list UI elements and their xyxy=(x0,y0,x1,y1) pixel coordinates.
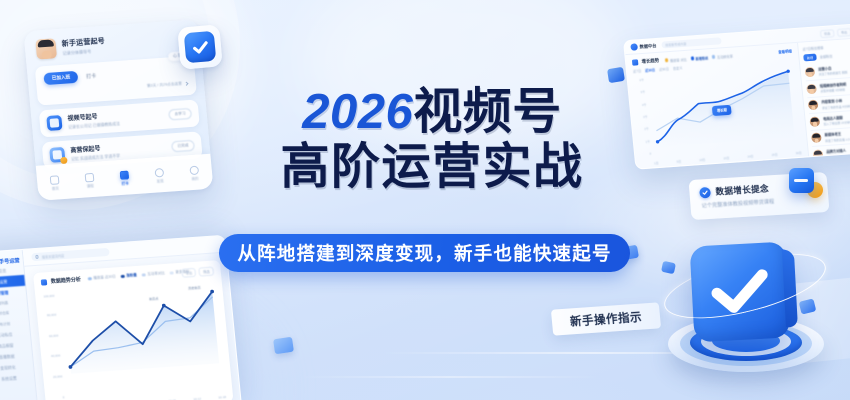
chart-panel: 增长趋势 播放量 对比 新增粉丝 互动转化率 查看明细 近7日 近30日 近90… xyxy=(625,43,808,169)
hero-title-line2: 高阶运营实战 xyxy=(232,143,632,193)
store-account-icon xyxy=(49,147,65,163)
tab-custom[interactable]: 自定义 xyxy=(673,65,683,71)
sidebar-item-label: 素材仓库 xyxy=(0,311,10,317)
chart-annotation: 历史新高 xyxy=(188,285,201,291)
logo-mark-icon xyxy=(630,44,637,51)
y-tick: 0 xyxy=(62,395,64,399)
tab-7d[interactable]: 近7日 xyxy=(633,68,642,74)
logo-text: 数据中台 xyxy=(639,42,656,49)
x-tick: 25日 xyxy=(771,153,777,157)
hero-year: 2026 xyxy=(302,85,413,139)
chart-svg xyxy=(56,283,223,375)
search-icon xyxy=(35,255,39,259)
y-tick: 6千 xyxy=(639,78,644,82)
sidebar-item-label: 数据总览 xyxy=(0,268,7,275)
3d-check-badge xyxy=(650,238,840,390)
hint-label-text: 新手操作指示 xyxy=(569,309,642,330)
y-tick: 1千 xyxy=(645,140,650,144)
x-axis: 09-12 09-18 09-24 09-30 10-06 10-12 10-1… xyxy=(68,395,226,400)
sidebar-item-label: 账号运营 xyxy=(0,279,8,286)
legend-label: 涨粉量 xyxy=(126,273,137,279)
discover-icon xyxy=(154,168,164,178)
list-item[interactable]: 视频号起号 记录长公司记 已做操教练成法 去学习 xyxy=(39,99,200,137)
avatar xyxy=(808,100,819,111)
topbar-actions: 筛选 导出 更多 xyxy=(820,26,850,37)
app-icon-tile xyxy=(184,31,217,64)
x-axis: 1日 5日 10日 15日 20日 25日 30日 xyxy=(654,151,802,166)
x-tick: 15日 xyxy=(723,156,729,160)
sidebar-item-label: 变现转化 xyxy=(0,365,16,372)
follower-list-header: 近7日粉丝榜单 xyxy=(802,42,850,52)
check-badge-icon xyxy=(120,170,130,180)
tab-90d[interactable]: 近90日 xyxy=(659,66,669,72)
y-tick: 0 xyxy=(649,152,651,156)
hint-label-card: 新手操作指示 xyxy=(551,302,661,335)
video-account-icon xyxy=(46,115,62,131)
nav-label: 首页 xyxy=(52,187,59,192)
avatar xyxy=(813,149,824,160)
filter-button[interactable]: 筛选 xyxy=(199,267,214,277)
chart-title: 增长趋势 xyxy=(641,58,659,65)
follower-list-title: 近7日粉丝榜单 xyxy=(802,45,823,51)
chart-title: 数据趋势分析 xyxy=(51,276,82,285)
hero-subtitle-pill: 从阵地搭建到深度变现，新手也能快速起号 xyxy=(219,234,630,272)
legend-item[interactable]: 播放量 对比 xyxy=(665,56,687,63)
checkin-progress-text: 第3天 / 共29点击这里 xyxy=(147,82,182,89)
sidebar-item-label: 系统设置 xyxy=(1,376,17,383)
nav-item-discover[interactable]: 发现 xyxy=(154,168,164,185)
follower-list-tabs: 新增 全部粉丝 xyxy=(803,50,850,62)
chart-marker-tag: 增长期 xyxy=(712,105,732,116)
list-item-action[interactable]: 去学习 xyxy=(168,108,192,121)
new-badge[interactable]: 新增 xyxy=(803,54,817,62)
tab-all-followers[interactable]: 全部粉丝 xyxy=(819,54,832,60)
sidebar-item-label: 商品橱窗 xyxy=(0,343,14,350)
x-tick: 20日 xyxy=(747,154,753,158)
follower-name: 新媒体老王 xyxy=(824,128,850,137)
home-icon xyxy=(50,175,60,185)
legend-item[interactable]: 新增粉丝 xyxy=(690,55,708,61)
sidebar-item-label: 内容管理 xyxy=(0,290,9,297)
y-tick: 60,000 xyxy=(49,333,59,338)
export-button[interactable]: 导出 xyxy=(181,268,196,278)
y-tick: 3千 xyxy=(643,115,648,119)
nav-label: 发现 xyxy=(156,179,163,184)
follower-name: 电商达人甜甜 xyxy=(823,112,850,121)
x-tick: 10日 xyxy=(699,158,705,162)
minus-tile-icon xyxy=(789,168,814,193)
hero-platform: 视频号 xyxy=(413,85,562,139)
y-tick: 2千 xyxy=(644,127,649,131)
dashboard-body: 增长趋势 播放量 对比 新增粉丝 互动转化率 查看明细 近7日 近30日 近90… xyxy=(625,37,850,168)
chart-card: 数据趋势分析 播放量 近30日 涨粉量 互动率对比 更多指标 导出 筛选 0 2… xyxy=(33,260,233,400)
avatar xyxy=(811,133,822,144)
search-placeholder: 搜索账号或内容 xyxy=(665,41,686,46)
avatar xyxy=(806,83,817,94)
legend-label: 互动率对比 xyxy=(147,271,165,277)
check-icon xyxy=(190,37,211,58)
chart-toolbar: 导出 筛选 xyxy=(181,267,214,278)
legend-item[interactable]: 播放量 近30日 xyxy=(88,274,116,281)
sidebar-item-label: 发布计划 xyxy=(0,321,11,327)
chart-plot-area: 0 1千 2千 3千 4千 5千 6千 xyxy=(634,67,801,156)
legend-label: 新增粉丝 xyxy=(695,55,708,61)
hero-title-line1: 2026视频号 xyxy=(232,88,632,138)
sidebar-item-label: 互动私信 xyxy=(0,331,13,338)
y-tick: 100,000 xyxy=(43,294,54,299)
legend-item[interactable]: 互动转化率 xyxy=(712,53,733,59)
profile-icon xyxy=(189,165,199,175)
view-detail-button[interactable]: 查看明细 xyxy=(778,48,792,54)
chart-plot-area: 0 20,000 40,000 60,000 80,000 100,000 xyxy=(42,283,225,399)
check-circle-icon xyxy=(699,186,711,198)
decor-cube-left xyxy=(273,337,294,354)
chevron-right-icon xyxy=(184,82,188,86)
y-tick: 4千 xyxy=(642,102,647,106)
legend-item[interactable]: 涨粉量 xyxy=(121,273,138,279)
nav-item-checkin[interactable]: 打卡 xyxy=(120,170,130,187)
hero-title-block: 2026视频号 高阶运营实战 xyxy=(232,88,632,193)
legend-label: 互动转化率 xyxy=(717,53,733,59)
y-tick: 20,000 xyxy=(53,375,63,380)
nav-label: 课程 xyxy=(87,184,94,189)
decor-cube-farleft xyxy=(607,67,625,83)
legend-item[interactable]: 互动率对比 xyxy=(142,271,166,278)
nav-item-home[interactable]: 首页 xyxy=(50,175,60,192)
dashboard-logo[interactable]: 数据中台 xyxy=(630,42,656,50)
dashboard-window-left[interactable]: 新手号运营 数据总览 账号运营 内容管理 视频列表 素材仓库 发布计划 互动私信… xyxy=(0,235,242,400)
avatar xyxy=(809,116,820,127)
x-tick: 10-18 xyxy=(218,395,226,400)
legend-label: 播放量 近30日 xyxy=(93,274,116,281)
poster-canvas: 新手运营起号 记录分体操导号 心 我要考 已加入班 打卡 第3天 / 共29点击… xyxy=(0,0,850,400)
y-tick: 5千 xyxy=(641,90,646,94)
user-avatar xyxy=(35,38,57,59)
x-tick: 5日 xyxy=(676,159,681,163)
avatar xyxy=(804,67,815,78)
chart-area-fill xyxy=(64,292,219,374)
export-button[interactable]: 导出 xyxy=(837,27,850,36)
checkin-label: 打卡 xyxy=(86,72,97,80)
dashboard-sidebar: 新手号运营 数据总览 账号运营 内容管理 视频列表 素材仓库 发布计划 互动私信… xyxy=(0,250,40,400)
feature-badge-title: 数据增长提念 xyxy=(715,182,769,197)
follower-name: 品牌方对接人 xyxy=(826,145,850,154)
tab-30d[interactable]: 近30日 xyxy=(645,67,655,73)
nav-item-course[interactable]: 课程 xyxy=(85,173,95,190)
bg-floor-streak-2 xyxy=(300,376,600,378)
y-tick: 40,000 xyxy=(51,354,61,359)
search-input[interactable]: 搜索账号或内容 xyxy=(661,37,722,48)
chart-legend: 播放量 近30日 涨粉量 互动率对比 更多指标 xyxy=(88,269,190,281)
course-icon xyxy=(85,173,95,183)
trend-icon xyxy=(632,60,638,66)
hero-subtitle-text: 从阵地搭建到深度变现，新手也能快速起号 xyxy=(237,240,611,266)
search-input[interactable]: 搜索关键词内容 xyxy=(31,248,110,261)
check-app-icon[interactable] xyxy=(177,24,223,70)
y-tick: 80,000 xyxy=(47,312,57,317)
nav-label: 我的 xyxy=(191,177,198,182)
joined-chip[interactable]: 已加入班 xyxy=(43,71,78,85)
nav-item-profile[interactable]: 我的 xyxy=(189,165,199,182)
nav-label: 打卡 xyxy=(122,182,129,187)
search-placeholder: 搜索关键词内容 xyxy=(42,252,65,259)
sidebar-item-label: 直播数据 xyxy=(0,354,15,361)
x-tick: 30日 xyxy=(796,151,802,155)
sidebar-item-label: 视频列表 xyxy=(0,301,9,307)
badge-decor-group xyxy=(789,168,823,198)
chart-icon xyxy=(41,279,48,285)
x-tick: 1日 xyxy=(654,161,659,165)
filter-button[interactable]: 筛选 xyxy=(820,29,835,38)
list-item-action[interactable]: 已完成 xyxy=(171,140,195,153)
chart-annotation: 新高点 xyxy=(149,296,159,302)
sidebar-item-settings[interactable]: 系统设置 xyxy=(0,372,35,386)
legend-label: 播放量 对比 xyxy=(670,56,687,62)
dashboard-window-right[interactable]: 数据中台 搜索账号或内容 筛选 导出 更多 增长趋势 播放量 对比 新增粉丝 xyxy=(623,22,850,169)
